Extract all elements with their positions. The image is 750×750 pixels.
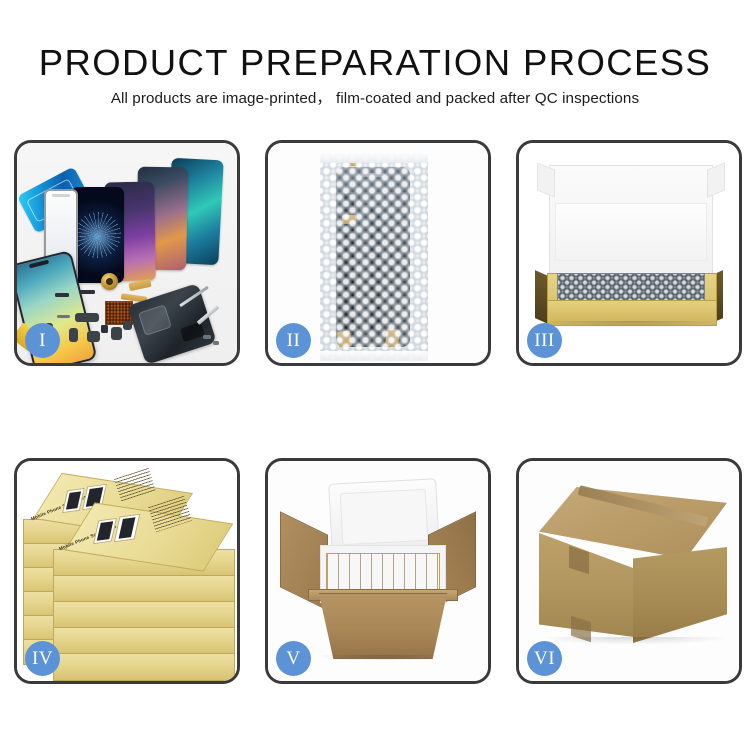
product-preparation-process-page: PRODUCT PREPARATION PROCESS All products…: [0, 0, 750, 750]
page-subtitle: All products are image-printed， film-coa…: [0, 90, 750, 108]
stacked-box: [53, 627, 235, 655]
small-part: [69, 328, 78, 342]
carton-shadow: [322, 655, 442, 661]
carton-shadow: [547, 637, 723, 644]
small-part: [79, 290, 95, 294]
step-badge-2: II: [276, 323, 311, 358]
carton-right-face: [633, 547, 727, 643]
screw-part: [203, 335, 211, 339]
small-part: [55, 293, 69, 297]
step-badge-1: I: [25, 323, 60, 358]
box-shadow: [545, 321, 717, 327]
process-step-panel-1[interactable]: I: [14, 140, 240, 366]
bubble-texture: [320, 153, 428, 361]
step-badge-6: VI: [527, 641, 562, 676]
phone-display-module: [71, 187, 124, 283]
small-part: [111, 327, 122, 340]
small-part: [87, 331, 100, 342]
process-step-panel-6[interactable]: VI: [516, 458, 742, 684]
small-part: [75, 313, 99, 322]
speaker-coil-part: [101, 273, 118, 290]
small-part: [123, 321, 132, 330]
small-part: [57, 315, 70, 318]
process-step-panel-4[interactable]: Mobile Phone Spare Parts Mobile Phone Sp…: [14, 458, 240, 684]
screw-part: [213, 341, 219, 345]
stacked-box: [53, 653, 235, 681]
carton-body: [310, 593, 456, 659]
bubble-wrap-bag: [320, 153, 428, 361]
bag-seal-top: [320, 153, 428, 163]
foam-sheet: [555, 203, 707, 261]
stacked-box: [53, 575, 235, 603]
step-badge-5: V: [276, 641, 311, 676]
process-step-grid: I II: [14, 140, 742, 684]
step-badge-4: IV: [25, 641, 60, 676]
stacked-box: [53, 601, 235, 629]
page-title: PRODUCT PREPARATION PROCESS: [0, 42, 750, 84]
process-step-panel-2[interactable]: II: [265, 140, 491, 366]
step-badge-3: III: [527, 323, 562, 358]
bubble-wrap-liner: [557, 273, 705, 303]
header: PRODUCT PREPARATION PROCESS All products…: [0, 0, 750, 130]
process-step-panel-5[interactable]: V: [265, 458, 491, 684]
bag-seal-bottom: [320, 351, 428, 361]
small-part: [101, 325, 108, 333]
process-step-panel-3[interactable]: III: [516, 140, 742, 366]
